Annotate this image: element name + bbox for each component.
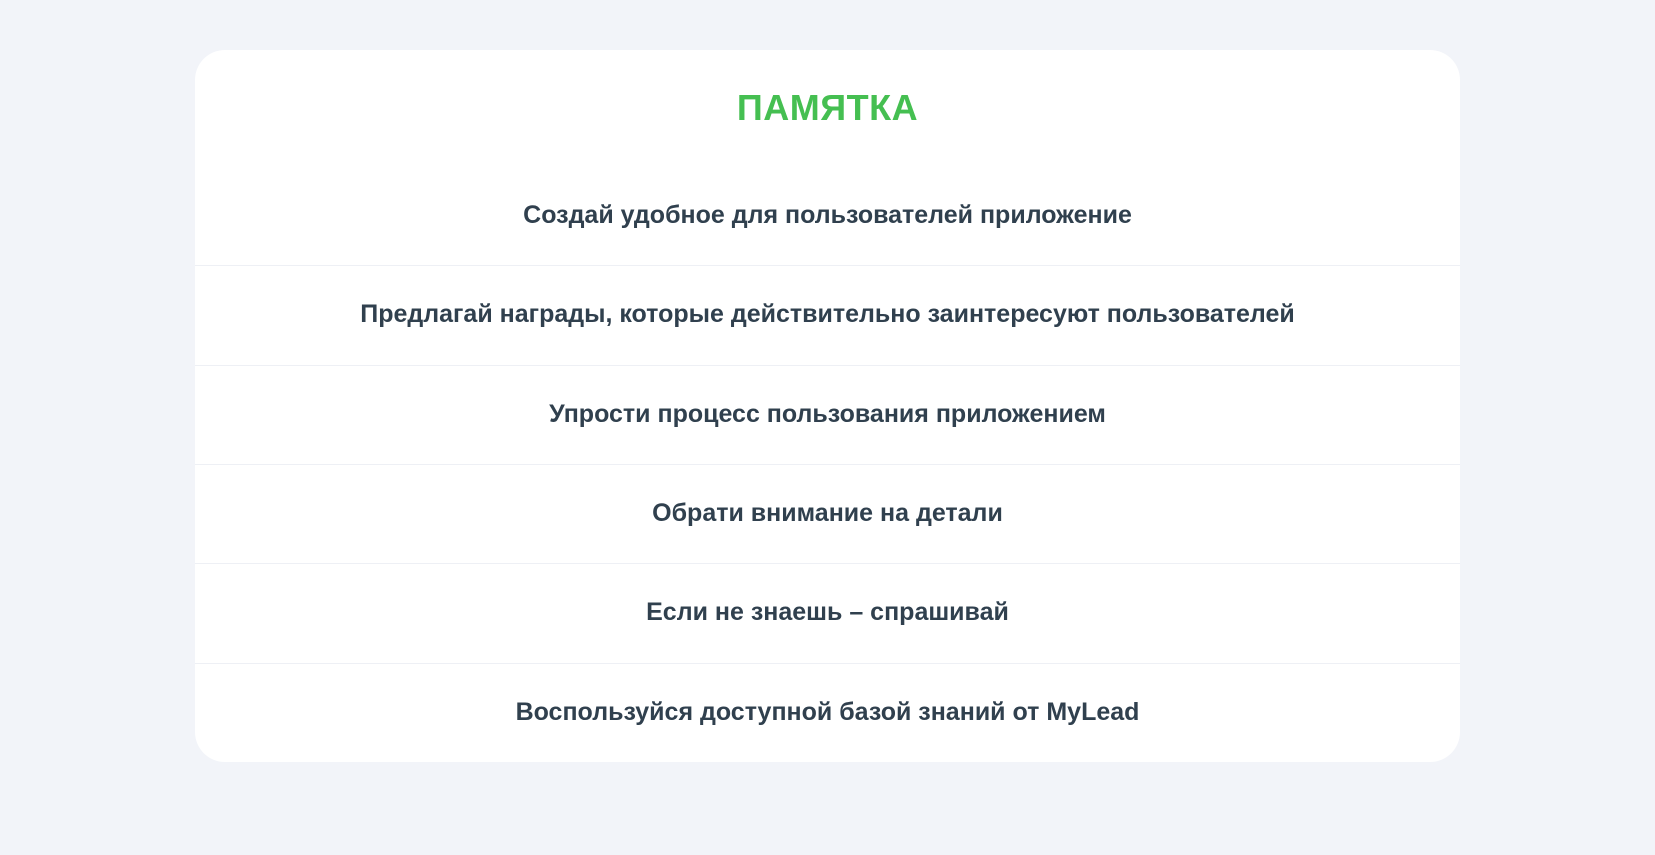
list-item: Воспользуйся доступной базой знаний от M… (195, 663, 1460, 762)
memo-item-text-2: Предлагай награды, которые действительно… (360, 299, 1295, 330)
memo-item-text-1: Создай удобное для пользователей приложе… (523, 200, 1132, 231)
list-item: Упрости процесс пользования приложением (195, 365, 1460, 464)
memo-list: Создай удобное для пользователей приложе… (195, 166, 1460, 762)
list-item: Если не знаешь – спрашивай (195, 563, 1460, 662)
memo-title-container: ПАМЯТКА (195, 50, 1460, 166)
list-item: Создай удобное для пользователей приложе… (195, 166, 1460, 265)
memo-item-text-6: Воспользуйся доступной базой знаний от M… (516, 697, 1140, 728)
page-title: ПАМЯТКА (737, 90, 918, 126)
memo-card: ПАМЯТКА Создай удобное для пользователей… (195, 50, 1460, 762)
list-item: Обрати внимание на детали (195, 464, 1460, 563)
memo-item-text-3: Упрости процесс пользования приложением (549, 399, 1106, 430)
list-item: Предлагай награды, которые действительно… (195, 265, 1460, 364)
memo-item-text-4: Обрати внимание на детали (652, 498, 1003, 529)
memo-item-text-5: Если не знаешь – спрашивай (646, 597, 1009, 628)
page-root: ПАМЯТКА Создай удобное для пользователей… (0, 0, 1655, 855)
